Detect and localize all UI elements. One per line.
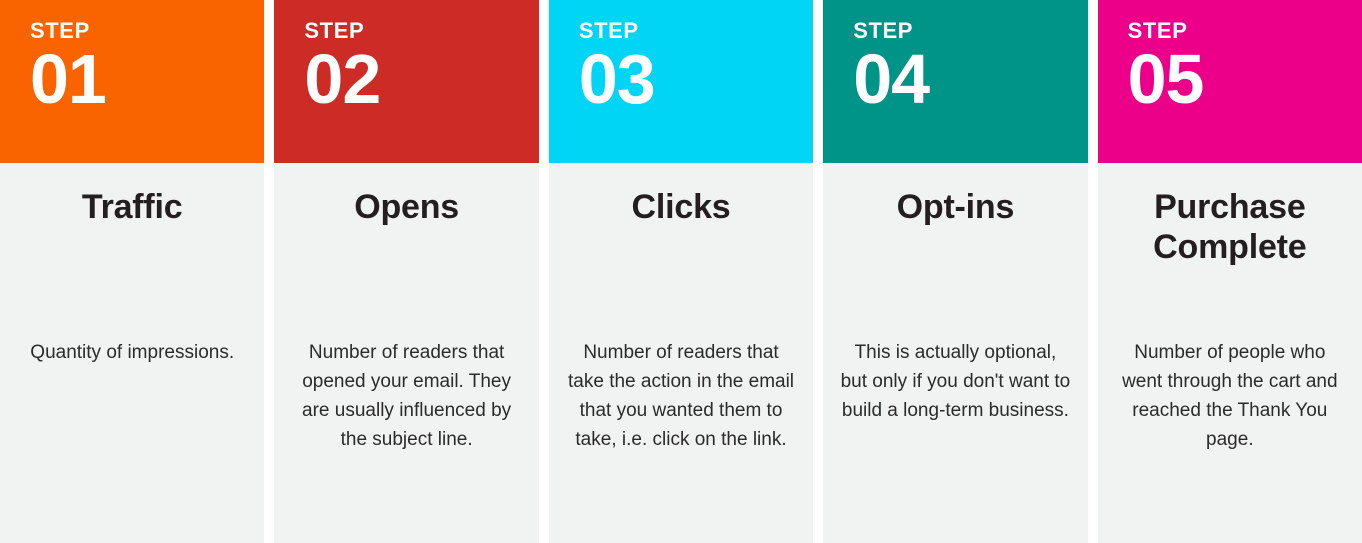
step-label-01: STEP [30,20,264,42]
step-funnel: STEP 01 Traffic Quantity of impressions.… [0,0,1362,543]
step-title-01: Traffic [82,187,183,227]
step-description-01: Quantity of impressions. [16,339,248,368]
step-title-05: Purchase Complete [1114,187,1346,267]
step-title-02: Opens [354,187,459,227]
step-body-02: Opens Number of readers that opened your… [274,163,538,543]
step-label-02: STEP [304,20,538,42]
step-number-02: 02 [304,44,538,115]
step-number-05: 05 [1128,44,1362,115]
step-header-01: STEP 01 [0,0,264,163]
step-column-02: STEP 02 Opens Number of readers that ope… [274,0,538,543]
step-number-01: 01 [30,44,264,115]
step-description-05: Number of people who went through the ca… [1114,339,1346,455]
step-number-04: 04 [853,44,1087,115]
step-title-04: Opt-ins [897,187,1015,227]
step-body-05: Purchase Complete Number of people who w… [1098,163,1362,543]
step-column-01: STEP 01 Traffic Quantity of impressions. [0,0,264,543]
step-body-04: Opt-ins This is actually optional, but o… [823,163,1087,543]
step-header-03: STEP 03 [549,0,813,163]
step-header-05: STEP 05 [1098,0,1362,163]
step-body-01: Traffic Quantity of impressions. [0,163,264,543]
step-label-03: STEP [579,20,813,42]
step-label-05: STEP [1128,20,1362,42]
step-label-04: STEP [853,20,1087,42]
step-column-03: STEP 03 Clicks Number of readers that ta… [549,0,813,543]
step-header-02: STEP 02 [274,0,538,163]
step-body-03: Clicks Number of readers that take the a… [549,163,813,543]
step-column-04: STEP 04 Opt-ins This is actually optiona… [823,0,1087,543]
step-column-05: STEP 05 Purchase Complete Number of peop… [1098,0,1362,543]
step-description-04: This is actually optional, but only if y… [839,339,1071,426]
step-header-04: STEP 04 [823,0,1087,163]
step-title-03: Clicks [632,187,731,227]
step-description-02: Number of readers that opened your email… [290,339,522,455]
step-number-03: 03 [579,44,813,115]
step-description-03: Number of readers that take the action i… [565,339,797,455]
